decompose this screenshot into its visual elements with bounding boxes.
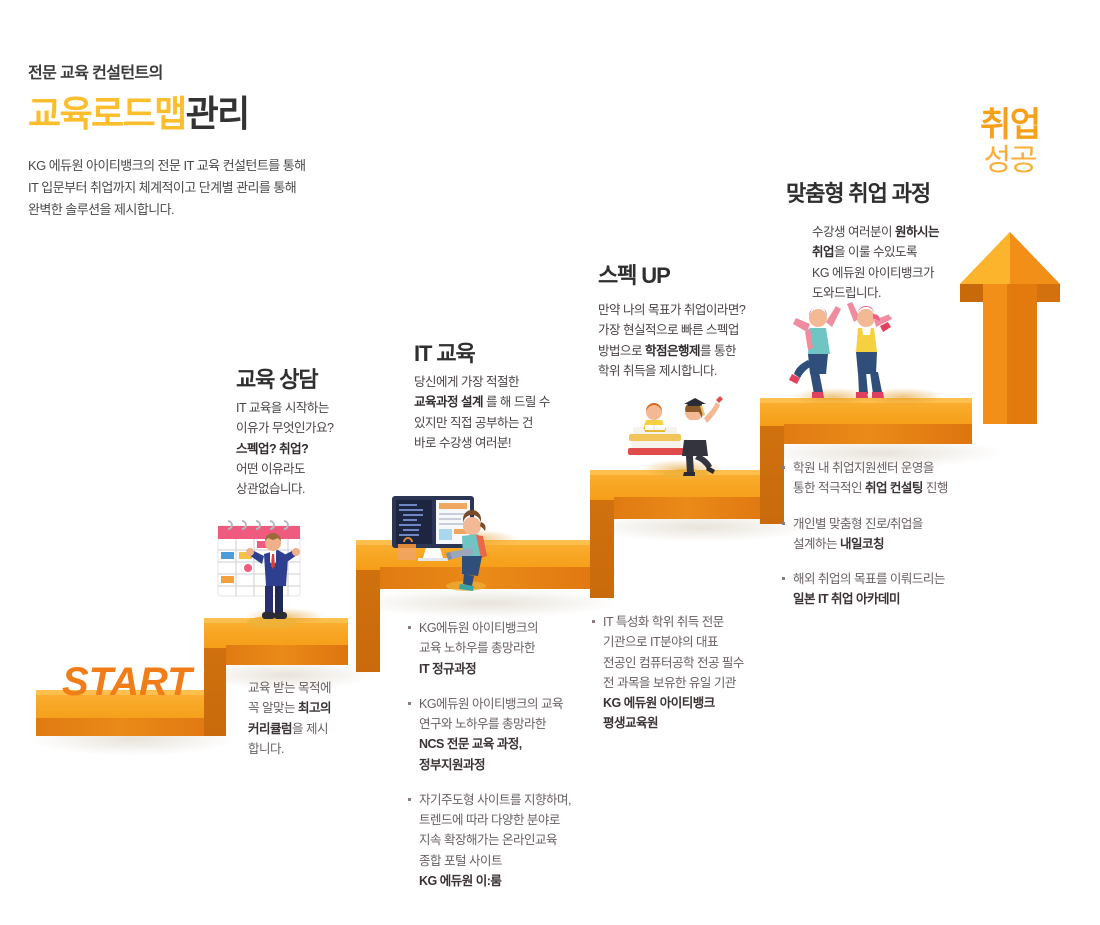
step-3-title: 스펙 UP bbox=[598, 258, 670, 290]
jumping-person-right bbox=[845, 294, 896, 398]
person-with-laptop-and-monitor-illustration bbox=[384, 492, 510, 592]
businessman-with-calendar-illustration bbox=[212, 512, 330, 630]
step-1-body: IT 교육을 시작하는 이유가 무엇인가요? 스펙업? 취업? 어떤 이유라도 … bbox=[236, 398, 386, 499]
header-kicker: 전문 교육 컨설턴트의 bbox=[28, 64, 448, 83]
bullet-item: 해외 취업의 목표를 이뤄드리는일본 IT 취업 아카데미 bbox=[782, 569, 997, 610]
stair-step-3-riser bbox=[614, 497, 778, 519]
roadmap-infographic: 전문 교육 컨설턴트의 교육로드맵관리 KG 에듀원 아이티뱅크의 전문 IT … bbox=[0, 0, 1100, 925]
note-item: 교육 받는 목적에꼭 알맞는 최고의커리큘럼을 제시합니다. bbox=[248, 678, 378, 759]
step-4-body: 수강생 여러분이 원하시는 취업을 이룰 수있도록 KG 에듀원 아이티뱅크가 … bbox=[812, 222, 992, 303]
stair-shadow bbox=[352, 588, 622, 618]
two-jumping-people-illustration bbox=[782, 292, 902, 404]
step-2-title: IT 교육 bbox=[414, 336, 475, 368]
header-block: 전문 교육 컨설턴트의 교육로드맵관리 KG 에듀원 아이티뱅크의 전문 IT … bbox=[28, 64, 448, 222]
step-2-body: 당신에게 가장 적절한 교육과정 설계 를 해 드릴 수 있지만 직접 공부하는… bbox=[414, 372, 589, 453]
step-1-notes: 교육 받는 목적에꼭 알맞는 최고의커리큘럼을 제시합니다. bbox=[248, 678, 378, 774]
stair-step-4-riser bbox=[784, 424, 972, 444]
start-label: START bbox=[62, 660, 192, 705]
goal-label: 취업 성공 bbox=[980, 108, 1040, 177]
step-2-bullets: KG에듀원 아이티뱅크의교육 노하우를 총망라한IT 정규과정 KG에듀원 아이… bbox=[408, 618, 594, 906]
bullet-item: IT 특성화 학위 취득 전문기관으로 IT분야의 대표전공인 컴퓨터공학 전공… bbox=[592, 612, 782, 734]
bullet-item: KG에듀원 아이티뱅크의교육 노하우를 총망라한IT 정규과정 bbox=[408, 618, 594, 679]
step-3-bullets: IT 특성화 학위 취득 전문기관으로 IT분야의 대표전공인 컴퓨터공학 전공… bbox=[592, 612, 782, 749]
bullet-item: 자기주도형 사이트를 지향하며,트렌드에 따라 다양한 분야로지속 확장해가는 … bbox=[408, 790, 594, 891]
bullet-item: 학원 내 취업지원센터 운영을통한 적극적인 취업 컨설팅 진행 bbox=[782, 458, 997, 499]
step-1-title: 교육 상담 bbox=[236, 362, 318, 394]
page-title-accent: 교육로드맵 bbox=[28, 93, 186, 134]
goal-label-line2: 성공 bbox=[980, 144, 1040, 177]
bullet-item: KG에듀원 아이티뱅크의 교육연구와 노하우를 총망라한NCS 전문 교육 과정… bbox=[408, 694, 594, 775]
step-4-title: 맞춤형 취업 과정 bbox=[786, 176, 930, 208]
step-3-body: 만약 나의 목표가 취업이라면? 가장 현실적으로 빠른 스펙업 방법으로 학점… bbox=[598, 300, 798, 381]
stair-start-riser bbox=[36, 718, 226, 736]
stair-step-1-riser bbox=[226, 645, 348, 665]
page-title-plain: 관리 bbox=[186, 93, 249, 134]
goal-label-line1: 취업 bbox=[980, 108, 1040, 144]
bullet-item: 개인별 맞춤형 진로/취업을설계하는 내일코칭 bbox=[782, 514, 997, 555]
step-4-bullets: 학원 내 취업지원센터 운영을통한 적극적인 취업 컨설팅 진행 개인별 맞춤형… bbox=[782, 458, 997, 625]
page-title: 교육로드맵관리 bbox=[28, 93, 448, 134]
header-description: KG 에듀원 아이티뱅크의 전문 IT 교육 컨설턴트를 통해 IT 입문부터 … bbox=[28, 155, 448, 222]
graduate-and-reader-on-books-illustration bbox=[618, 388, 748, 480]
